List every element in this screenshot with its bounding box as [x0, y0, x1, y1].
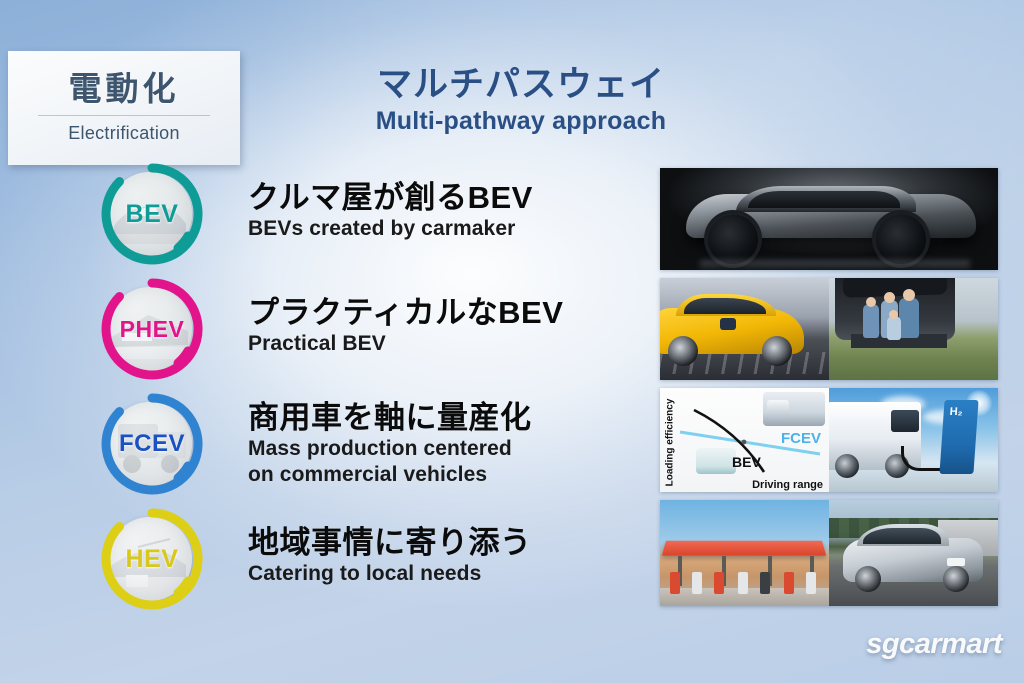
photo-silver-prius	[829, 500, 998, 606]
row-jp-bev: クルマ屋が創るBEV	[248, 180, 658, 216]
fuel-pump-6	[784, 572, 794, 594]
chart-y-axis-label: Loading efficiency	[662, 396, 678, 488]
electrification-title-box: 電動化 Electrification	[8, 51, 240, 165]
badge-hev: HEV	[96, 507, 208, 619]
chart-series-label-fcev: FCEV	[781, 430, 821, 447]
photo-row-fcev: Loading efficiency Driving range BEV FCE…	[660, 388, 998, 492]
family-head-3	[903, 289, 915, 301]
list-item: HEV 地域事情に寄り添う Catering to local needs	[96, 503, 656, 621]
fuel-pump-7	[806, 572, 816, 594]
photo-h2-truck-station: H₂	[829, 388, 998, 492]
gas-station-image	[660, 500, 829, 606]
chart-truck-thumb	[763, 392, 825, 426]
chart-series-label-bev: BEV	[732, 454, 761, 470]
photo-concept-bev	[660, 168, 998, 270]
row-en-hev: Catering to local needs	[248, 561, 658, 587]
refuel-hose	[901, 446, 944, 471]
family-person-1	[863, 304, 879, 338]
h2-label: H₂	[949, 406, 963, 418]
electrification-title-en: Electrification	[68, 123, 180, 144]
car-front-wheel	[708, 214, 758, 264]
car-rear-wheel	[876, 214, 926, 264]
row-en-fcev-2: on commercial vehicles	[248, 462, 658, 488]
family-head-4	[889, 310, 898, 319]
silver-car-wheel-front	[943, 566, 969, 592]
row-jp-phev: プラクティカルなBEV	[248, 295, 658, 331]
badge-phev-label: PHEV	[96, 277, 208, 381]
silver-car-image	[829, 500, 998, 606]
row-en-phev: Practical BEV	[248, 331, 658, 357]
row-text-bev: クルマ屋が創るBEV BEVs created by carmaker	[248, 180, 658, 242]
page-title-jp: マルチパスウェイ	[356, 66, 686, 104]
silver-car-wheel-rear	[855, 566, 881, 592]
family-person-4	[887, 316, 901, 340]
silver-car-glass	[863, 528, 941, 544]
row-text-hev: 地域事情に寄り添う Catering to local needs	[248, 525, 658, 587]
page-title: マルチパスウェイ Multi-pathway approach	[356, 66, 686, 136]
fuel-pump-5	[760, 572, 770, 594]
photo-fcev-chart: Loading efficiency Driving range BEV FCE…	[660, 388, 829, 492]
photo-row-phev	[660, 278, 998, 380]
family-head-1	[866, 297, 876, 307]
page-title-en: Multi-pathway approach	[356, 107, 686, 136]
list-item: BEV クルマ屋が創るBEV BEVs created by carmaker	[96, 158, 656, 276]
fuel-pump-3	[714, 572, 724, 594]
family-head-2	[884, 292, 895, 303]
fuel-pump-1	[670, 572, 680, 594]
hydrogen-station-image: H₂	[829, 388, 998, 492]
concept-car-image	[660, 168, 998, 270]
yellow-car-wheel-rear	[668, 336, 698, 366]
truck-wheel-rear	[835, 454, 859, 478]
car-reflection	[700, 260, 970, 270]
yellow-car-image	[660, 278, 829, 380]
chart-bev-thumb	[696, 448, 736, 474]
badge-bev: BEV	[96, 162, 208, 274]
charging-plug-icon	[720, 318, 736, 330]
badge-bev-label: BEV	[96, 162, 208, 266]
badge-fcev: FCEV	[96, 392, 208, 504]
watermark: sgcarmart	[866, 628, 1002, 661]
fuel-pump-2	[692, 572, 702, 594]
photo-family-tailgate	[829, 278, 998, 380]
photo-yellow-prius-charging	[660, 278, 829, 380]
chart-y-axis-text: Loading efficiency	[665, 398, 676, 486]
row-en-bev: BEVs created by carmaker	[248, 216, 658, 242]
row-text-fcev: 商用車を軸に量産化 Mass production centered on co…	[248, 400, 658, 488]
row-en-fcev-1: Mass production centered	[248, 436, 658, 462]
fuel-pump-4	[738, 572, 748, 594]
yellow-car-wheel-front	[762, 336, 792, 366]
chart-x-axis-label: Driving range	[752, 479, 823, 491]
station-canopy	[662, 541, 826, 556]
hydrogen-dispenser: H₂	[939, 400, 978, 474]
list-item: PHEV プラクティカルなBEV Practical BEV	[96, 273, 656, 391]
photo-gas-station	[660, 500, 829, 606]
row-jp-hev: 地域事情に寄り添う	[248, 525, 658, 561]
electrification-divider	[38, 115, 210, 116]
electrification-title-jp: 電動化	[69, 72, 180, 112]
row-jp-fcev: 商用車を軸に量産化	[248, 400, 658, 436]
badge-fcev-label: FCEV	[96, 392, 208, 496]
car-glass-shape	[748, 191, 900, 208]
badge-phev: PHEV	[96, 277, 208, 389]
photo-row-hev	[660, 500, 998, 606]
list-item: FCEV 商用車を軸に量産化 Mass production centered …	[96, 388, 656, 506]
family-image	[829, 278, 998, 380]
badge-hev-label: HEV	[96, 507, 208, 611]
slide-root: 電動化 Electrification マルチパスウェイ Multi-pathw…	[0, 0, 1024, 683]
license-plate	[947, 558, 965, 566]
photo-strip: Loading efficiency Driving range BEV FCE…	[660, 168, 998, 616]
row-text-phev: プラクティカルなBEV Practical BEV	[248, 295, 658, 357]
loading-efficiency-chart: Loading efficiency Driving range BEV FCE…	[660, 388, 829, 492]
truck-cab-glass	[891, 410, 919, 432]
family-person-3	[899, 298, 919, 338]
